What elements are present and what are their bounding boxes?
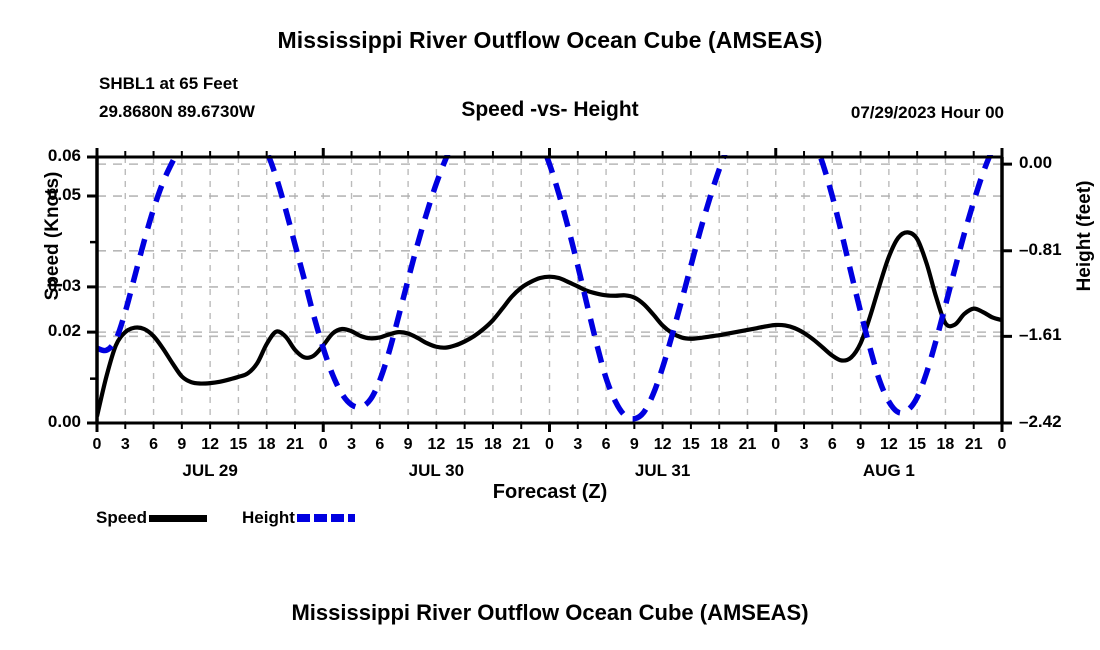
x-tick-label: 21 xyxy=(732,436,762,454)
x-tick-label: 9 xyxy=(846,436,876,454)
page-title-bottom: Mississippi River Outflow Ocean Cube (AM… xyxy=(0,600,1100,626)
y-tick-label-right: –0.81 xyxy=(1019,240,1089,260)
x-tick-label: 18 xyxy=(478,436,508,454)
x-tick-label: 3 xyxy=(563,436,593,454)
x-tick-label: 3 xyxy=(789,436,819,454)
y-tick-label-left: 0.00 xyxy=(11,412,81,432)
x-tick-label: 0 xyxy=(535,436,565,454)
x-tick-label: 6 xyxy=(365,436,395,454)
x-axis-day-label: AUG 1 xyxy=(819,461,959,481)
x-tick-label: 12 xyxy=(195,436,225,454)
x-tick-label: 18 xyxy=(930,436,960,454)
x-tick-label: 15 xyxy=(676,436,706,454)
chart-figure: Mississippi River Outflow Ocean Cube (AM… xyxy=(0,0,1100,650)
y-tick-label-left: 0.03 xyxy=(11,276,81,296)
x-tick-label: 18 xyxy=(704,436,734,454)
y-tick-label-right: –1.61 xyxy=(1019,325,1089,345)
x-tick-label: 12 xyxy=(421,436,451,454)
x-tick-label: 12 xyxy=(648,436,678,454)
x-tick-label: 6 xyxy=(591,436,621,454)
x-tick-label: 18 xyxy=(252,436,282,454)
x-tick-label: 0 xyxy=(987,436,1017,454)
x-tick-label: 12 xyxy=(874,436,904,454)
legend-label-height: Height xyxy=(242,508,295,528)
y-tick-label-right: –2.42 xyxy=(1019,412,1089,432)
x-tick-label: 0 xyxy=(82,436,112,454)
x-axis-day-label: JUL 30 xyxy=(366,461,506,481)
legend-swatch-speed-icon xyxy=(149,515,207,522)
legend-label-speed: Speed xyxy=(96,508,147,528)
y-tick-label-left: 0.06 xyxy=(11,146,81,166)
x-axis-day-label: JUL 29 xyxy=(140,461,280,481)
x-tick-label: 15 xyxy=(450,436,480,454)
x-tick-label: 21 xyxy=(280,436,310,454)
x-tick-label: 6 xyxy=(139,436,169,454)
x-tick-label: 15 xyxy=(902,436,932,454)
x-tick-label: 0 xyxy=(308,436,338,454)
legend-item-height: Height xyxy=(242,508,355,528)
y-tick-label-left: 0.05 xyxy=(11,185,81,205)
y-tick-label-left: 0.02 xyxy=(11,321,81,341)
chart-legend: Speed Height xyxy=(96,508,355,528)
x-tick-label: 6 xyxy=(817,436,847,454)
x-tick-label: 3 xyxy=(337,436,367,454)
legend-swatch-height-icon xyxy=(297,514,355,522)
x-tick-label: 9 xyxy=(619,436,649,454)
x-tick-label: 9 xyxy=(393,436,423,454)
x-tick-label: 3 xyxy=(110,436,140,454)
x-tick-label: 9 xyxy=(167,436,197,454)
x-tick-label: 15 xyxy=(223,436,253,454)
plot-canvas xyxy=(0,0,1100,650)
x-tick-label: 21 xyxy=(959,436,989,454)
x-axis-day-label: JUL 31 xyxy=(593,461,733,481)
x-tick-label: 21 xyxy=(506,436,536,454)
y-tick-label-right: 0.00 xyxy=(1019,153,1089,173)
x-tick-label: 0 xyxy=(761,436,791,454)
legend-item-speed: Speed xyxy=(96,508,242,528)
